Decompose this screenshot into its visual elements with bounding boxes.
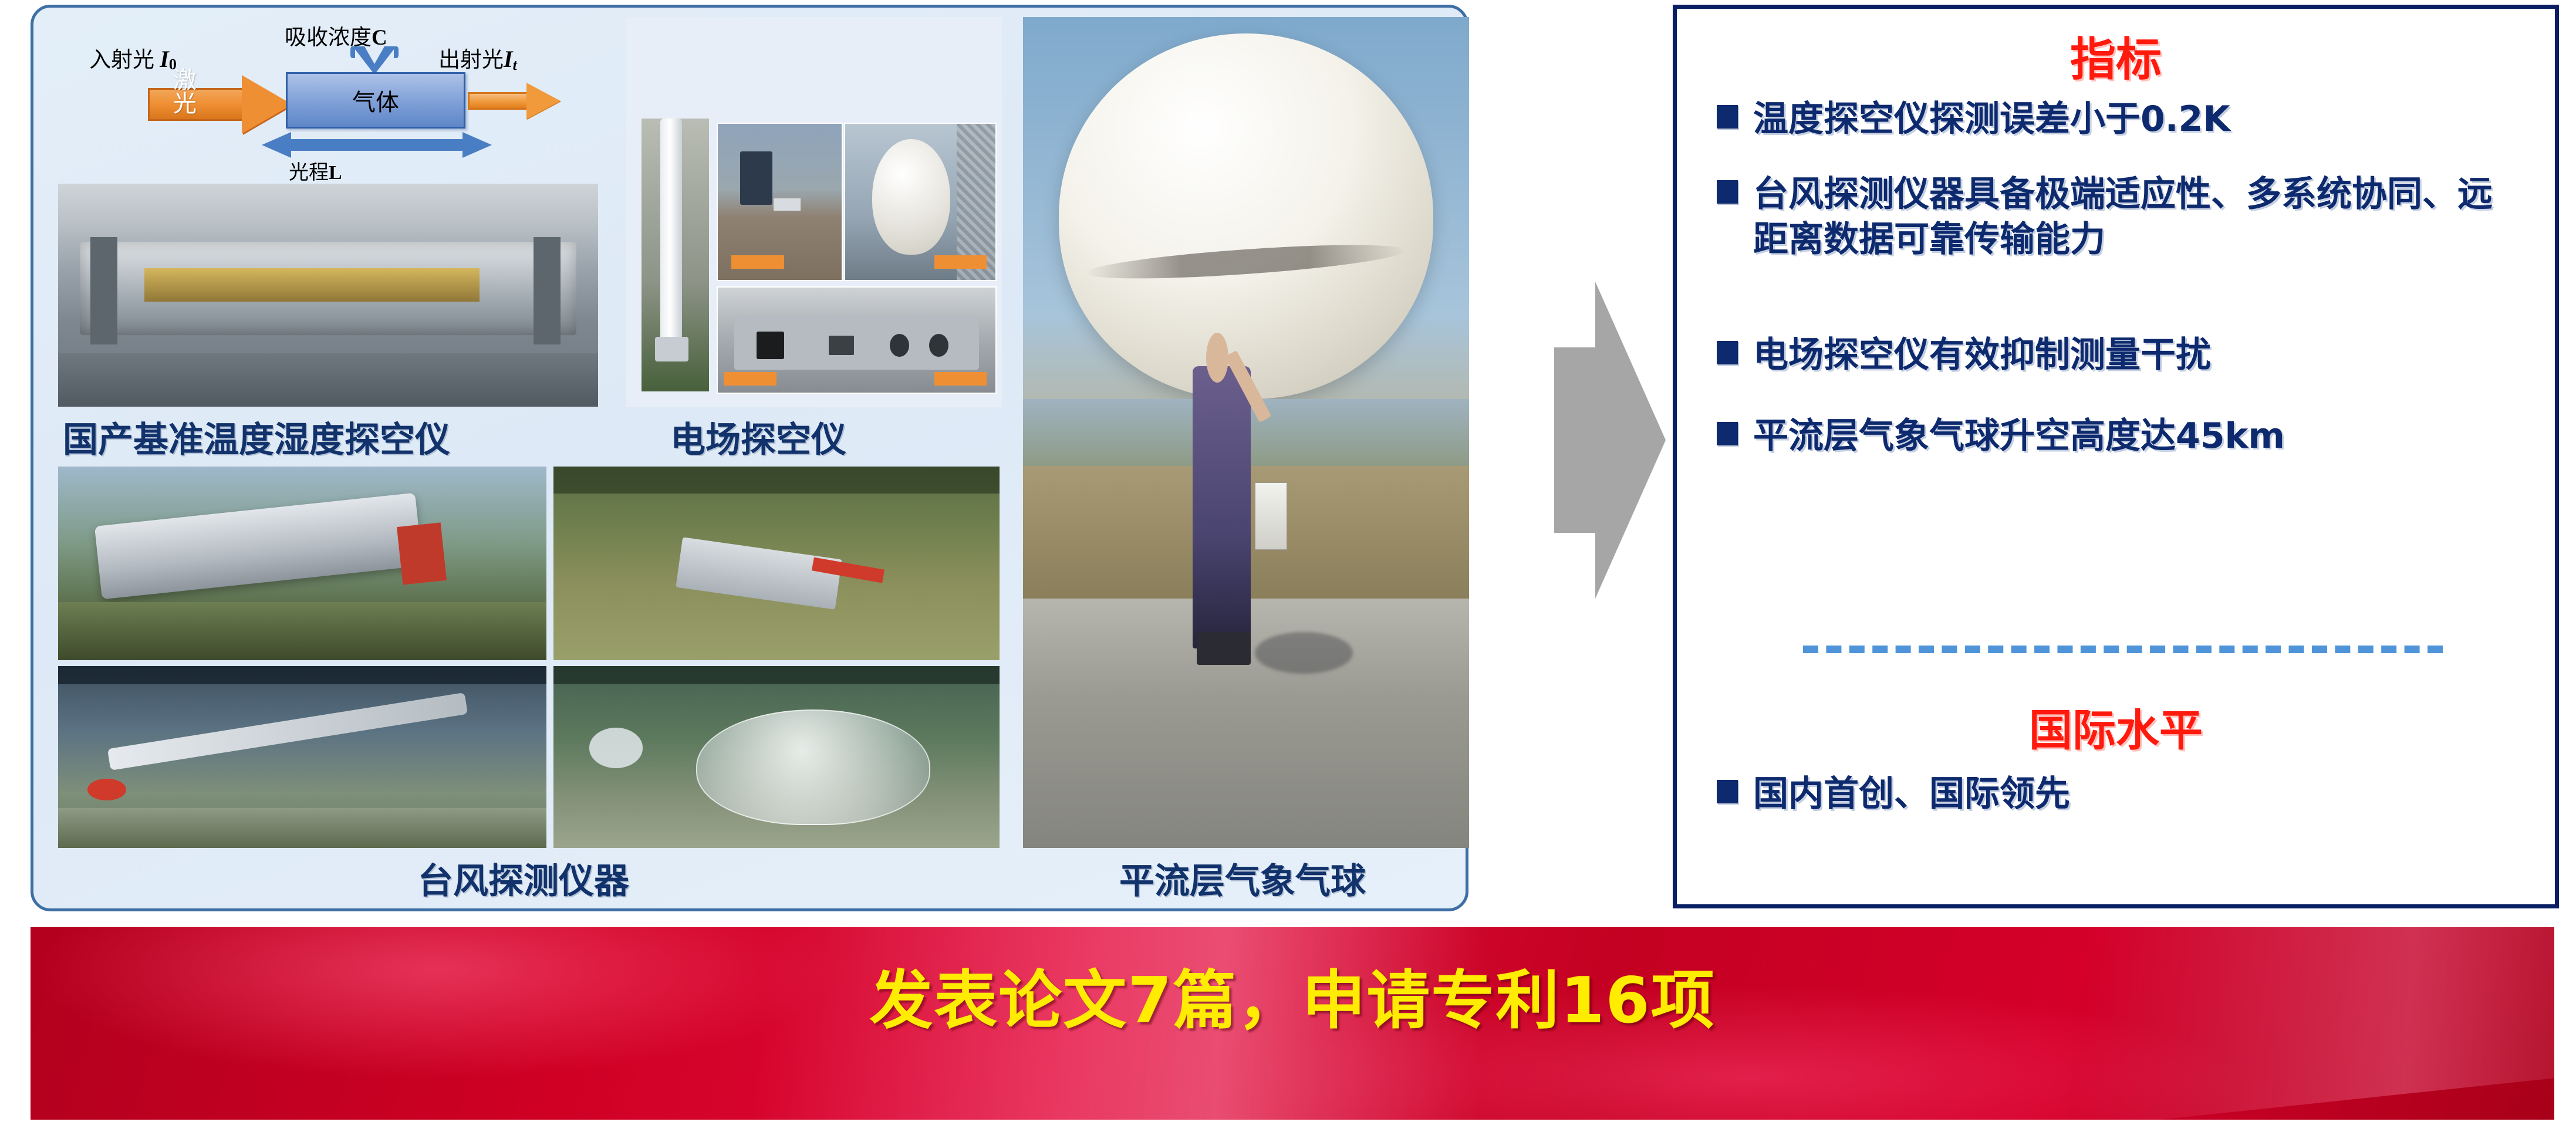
flow-right-arrow-icon [1520, 282, 1667, 599]
incident-symbol: I [160, 46, 169, 72]
indicator-item-3: 电场探空仪有效抑制测量干扰 [1717, 333, 2515, 378]
section-divider [1803, 646, 2443, 653]
path-length-symbol: L [329, 162, 342, 184]
outgoing-light-text: 出射光 [438, 48, 504, 72]
level-text-1: 国内首创、国际领先 [1753, 772, 2070, 817]
indicator-text-4: 平流层气象气球升空高度达45km [1753, 414, 2285, 459]
achievement-banner: 发表论文7篇，申请专利16项 [31, 927, 2554, 1120]
achievement-banner-text: 发表论文7篇，申请专利16项 [31, 949, 2554, 1041]
photo-electric-field-radiosonde [626, 17, 1002, 407]
incident-light-label: 入射光 I0 [89, 42, 177, 73]
left-content-panel: 入射光 I0 吸收浓度C 激光 气体 出射光 [31, 5, 1468, 911]
photo-typhoon-instrument-1 [58, 467, 546, 660]
indicator-text-3: 电场探空仪有效抑制测量干扰 [1753, 333, 2211, 378]
indicator-item-2: 台风探测仪器具备极端适应性、多系统协同、远距离数据可靠传输能力 [1717, 172, 2521, 262]
level-item-1: 国内首创、国际领先 [1717, 772, 2515, 817]
caption-typhoon-instruments: 台风探测仪器 [418, 853, 629, 904]
photo-typhoon-instrument-4 [553, 666, 1000, 848]
outgoing-light-label: 出射光It [438, 42, 517, 74]
bullet-square-icon [1717, 780, 1738, 803]
photo-typhoon-instrument-3 [58, 666, 546, 848]
caption-stratospheric-balloon: 平流层气象气球 [1119, 853, 1366, 904]
indicator-item-1: 温度探空仪探测误差小于0.2K [1717, 97, 2515, 142]
gas-cell-box: 气体 [286, 72, 465, 129]
outgoing-arrow-icon [468, 84, 562, 118]
caption-electric-field-radiosonde: 电场探空仪 [670, 411, 846, 462]
photo-temperature-humidity-radiosonde [58, 184, 598, 407]
indicators-panel: 指标 温度探空仪探测误差小于0.2K 台风探测仪器具备极端适应性、多系统协同、远… [1673, 5, 2559, 908]
bullet-square-icon [1717, 341, 1738, 364]
indicators-title: 指标 [1677, 23, 2555, 89]
bullet-square-icon [1717, 180, 1738, 204]
path-length-label: 光程L [289, 156, 342, 185]
indicator-text-1: 温度探空仪探测误差小于0.2K [1753, 97, 2230, 142]
absorption-diagram: 入射光 I0 吸收浓度C 激光 气体 出射光 [57, 13, 544, 184]
outgoing-symbol: I [504, 46, 513, 72]
path-length-text: 光程 [289, 162, 329, 184]
indicator-text-2: 台风探测仪器具备极端适应性、多系统协同、远距离数据可靠传输能力 [1753, 172, 2521, 262]
photo-typhoon-instrument-2 [553, 467, 1000, 660]
slide-root: 入射光 I0 吸收浓度C 激光 气体 出射光 [0, 0, 2576, 1132]
photo-stratospheric-balloon [1023, 17, 1469, 848]
bullet-square-icon [1717, 422, 1738, 445]
outgoing-subscript: t [513, 56, 517, 73]
laser-label: 激光 [171, 67, 194, 114]
incident-light-text: 入射光 [89, 48, 154, 72]
concentration-down-arrow-icon [349, 44, 400, 76]
bullet-square-icon [1717, 105, 1738, 129]
international-level-title: 国际水平 [1677, 695, 2555, 758]
caption-temperature-humidity-radiosonde: 国产基准温度湿度探空仪 [63, 411, 450, 462]
indicator-item-4: 平流层气象气球升空高度达45km [1717, 414, 2515, 459]
